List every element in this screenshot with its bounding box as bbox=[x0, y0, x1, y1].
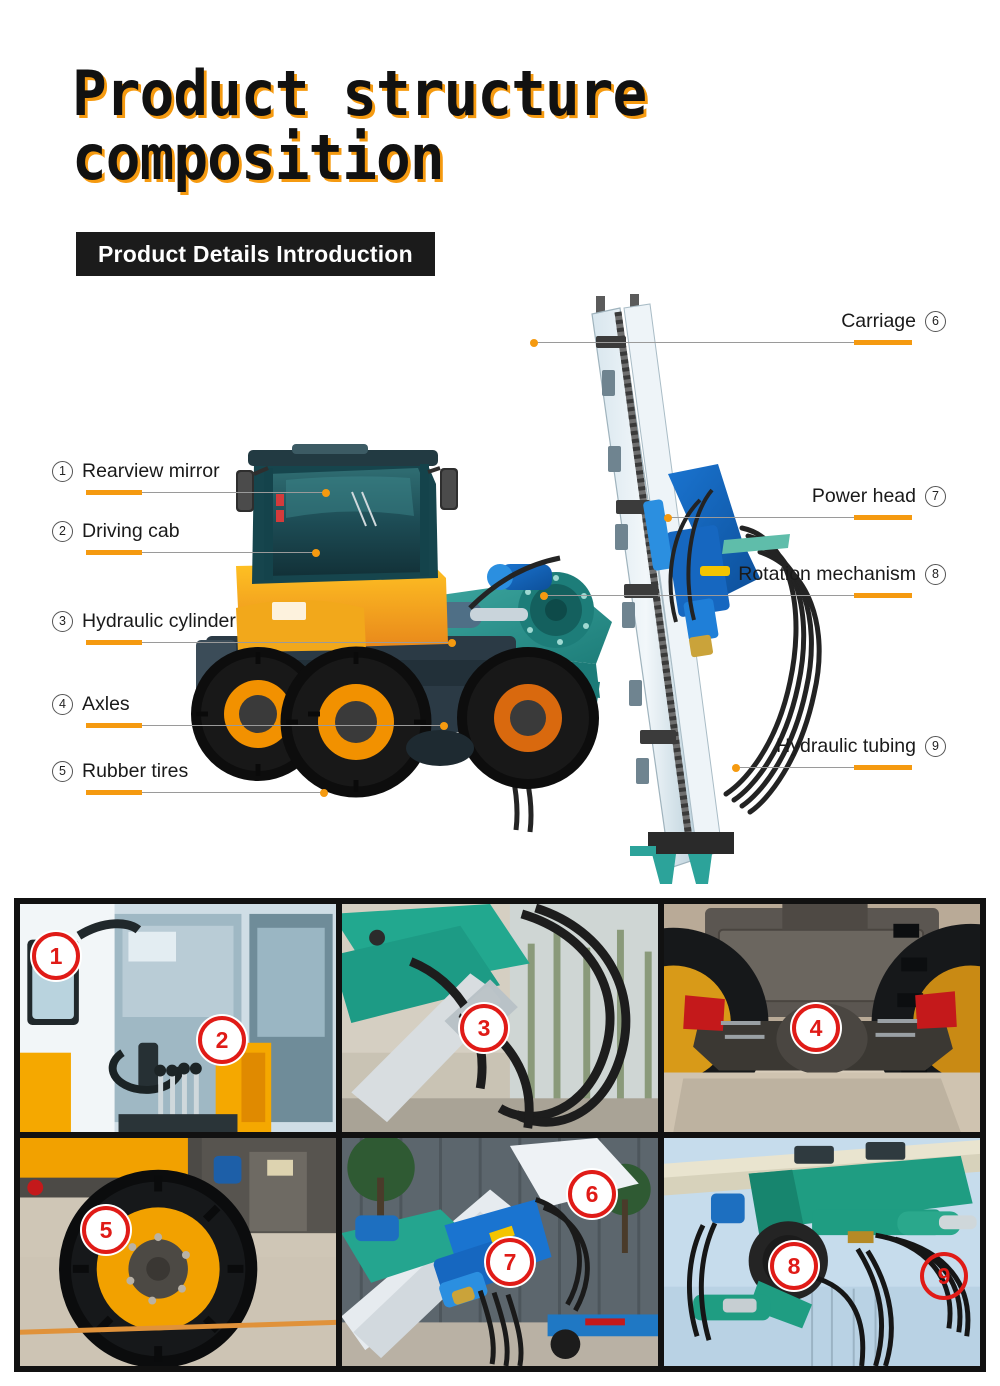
page-title-line-2: composition bbox=[72, 126, 872, 190]
callout-6-leader bbox=[386, 339, 946, 347]
callout-3-number: 3 bbox=[52, 611, 73, 632]
callout-4-leader bbox=[52, 722, 702, 730]
callout-9-label: Hydraulic tubing bbox=[776, 735, 916, 757]
callout-6-label: Carriage bbox=[841, 310, 916, 332]
callout-6-number: 6 bbox=[925, 311, 946, 332]
page-title-line-1: Product structure bbox=[72, 62, 872, 126]
product-structure-page: Product structure composition Product De… bbox=[0, 0, 1000, 1386]
callout-8[interactable]: Rotation mechanism 8 bbox=[326, 561, 946, 617]
thumbnail-cab-exterior[interactable]: 1 2 bbox=[20, 904, 336, 1132]
callout-8-leader bbox=[326, 592, 946, 600]
callout-9-leader bbox=[386, 764, 946, 772]
thumb-badge-2: 2 bbox=[198, 1016, 246, 1064]
page-title: Product structure composition bbox=[72, 62, 932, 190]
callout-5-number: 5 bbox=[52, 761, 73, 782]
thumbnail-rubber-tire[interactable]: 5 bbox=[20, 1138, 336, 1366]
callout-3-leader bbox=[52, 639, 702, 647]
callout-9-number: 9 bbox=[925, 736, 946, 757]
callout-1-label: Rearview mirror bbox=[82, 460, 220, 482]
thumbnail-hydraulic-cylinder[interactable]: 3 bbox=[342, 904, 658, 1132]
callout-2-leader bbox=[52, 549, 702, 557]
callout-7-label: Power head bbox=[812, 485, 916, 507]
callout-6[interactable]: Carriage 6 bbox=[386, 308, 946, 364]
thumb-badge-4: 4 bbox=[792, 1004, 840, 1052]
callout-4-label: Axles bbox=[82, 693, 130, 715]
callout-3-label: Hydraulic cylinder bbox=[82, 610, 236, 632]
section-banner: Product Details Introduction bbox=[76, 232, 435, 276]
callout-7[interactable]: Power head 7 bbox=[386, 483, 946, 539]
callout-7-leader bbox=[386, 514, 946, 522]
callout-8-label: Rotation mechanism bbox=[738, 563, 916, 585]
thumb-badge-8: 8 bbox=[770, 1242, 818, 1290]
thumb-badge-9: 9 bbox=[920, 1252, 968, 1300]
thumb-badge-7: 7 bbox=[486, 1238, 534, 1286]
callout-9[interactable]: Hydraulic tubing 9 bbox=[386, 733, 946, 789]
callout-1-number: 1 bbox=[52, 461, 73, 482]
thumb-badge-1: 1 bbox=[32, 932, 80, 980]
callout-2-label: Driving cab bbox=[82, 520, 180, 542]
detail-thumbnail-grid: 1 2 bbox=[14, 898, 986, 1372]
thumb-badge-3: 3 bbox=[460, 1004, 508, 1052]
section-banner-label: Product Details Introduction bbox=[98, 241, 413, 268]
thumbnail-rotation-tubing[interactable]: 8 9 bbox=[664, 1138, 980, 1366]
callout-5-label: Rubber tires bbox=[82, 760, 188, 782]
callout-7-number: 7 bbox=[925, 486, 946, 507]
thumbnail-carriage-powerhead[interactable]: 6 7 bbox=[342, 1138, 658, 1366]
callout-5-leader bbox=[52, 789, 702, 797]
thumb-badge-5: 5 bbox=[82, 1206, 130, 1254]
thumb-badge-6: 6 bbox=[568, 1170, 616, 1218]
callout-2-number: 2 bbox=[52, 521, 73, 542]
hero-diagram: 1 Rearview mirror 2 Driving cab 3 bbox=[0, 278, 1000, 890]
thumbnail-rear-axle[interactable]: 4 bbox=[664, 904, 980, 1132]
callout-8-number: 8 bbox=[925, 564, 946, 585]
callout-4-number: 4 bbox=[52, 694, 73, 715]
